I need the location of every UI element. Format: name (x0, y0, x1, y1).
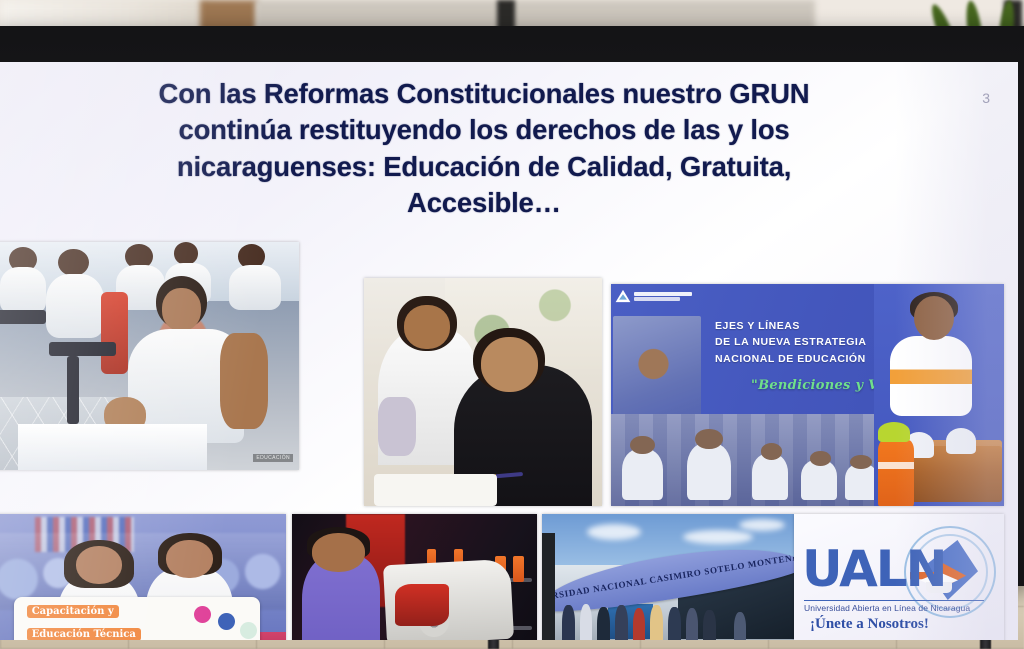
title-line-2: continúa restituyendo los derechos de la… (34, 112, 934, 148)
infographic-classroom-strip (611, 414, 883, 506)
government-logo-icon (615, 289, 692, 303)
title-line-1: Con las Reformas Constitucionales nuestr… (34, 76, 934, 112)
sewing-workshop-photo: LEANDRO ZUNIGA (292, 514, 537, 640)
construction-child-vest (878, 440, 914, 506)
banner-line-1: Capacitación y (27, 605, 119, 618)
title-line-3: nicaraguenses: Educación de Calidad, Gra… (34, 149, 934, 185)
presentation-monitor: Con las Reformas Constitucionales nuestr… (0, 26, 1024, 586)
classroom-students-photo: EDUCACIÓN (0, 242, 299, 470)
ualn-wordmark: UALN (802, 544, 945, 594)
beekeeper-child-icon (946, 428, 976, 454)
banner-line-2: Educación Técnica (27, 628, 141, 640)
ualn-logo-panel: UALN Universidad Abierta en Línea de Nic… (794, 514, 1004, 640)
banner-sign: Capacitación y Educación Técnica GRATUIT… (14, 597, 259, 640)
slide-number: 3 (982, 90, 990, 106)
ualn-subtitle: Universidad Abierta en Línea de Nicaragu… (804, 600, 984, 613)
presentation-slide: Con las Reformas Constitucionales nuestr… (0, 62, 1018, 640)
badge-blue-icon (218, 613, 235, 630)
ualn-swoosh-decoration (794, 622, 978, 640)
education-strategy-infographic: EJES Y LÍNEAS DE LA NUEVA ESTRATEGIA NAC… (611, 284, 1004, 506)
page-title: Con las Reformas Constitucionales nuestr… (34, 76, 934, 221)
university-building-photo: UNIVERSIDAD NACIONAL CASIMIRO SOTELO MON… (542, 514, 794, 640)
technical-education-banner-photo: Capacitación y Educación Técnica GRATUIT… (0, 514, 286, 640)
badge-pink-icon (194, 606, 211, 623)
badge-green-icon (240, 622, 257, 639)
women-literacy-photo (364, 278, 602, 506)
safety-helmet-icon (878, 422, 910, 442)
infographic-right-pane (874, 284, 1004, 506)
title-line-4: Accesible… (34, 185, 934, 221)
woman-illustration (888, 296, 974, 414)
photo-watermark: EDUCACIÓN (253, 454, 293, 462)
